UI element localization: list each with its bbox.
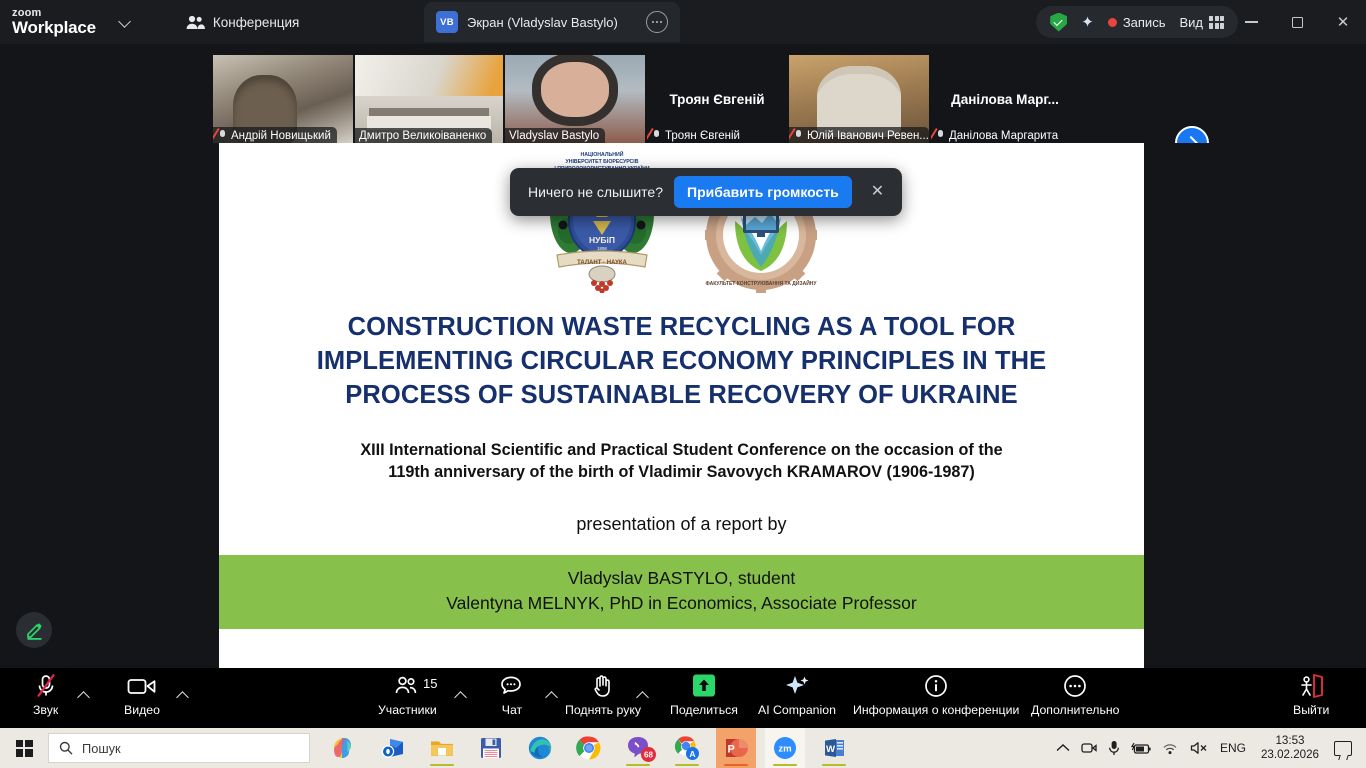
- zoom-logo: zoom Workplace: [12, 8, 96, 37]
- microphone-muted-icon: [793, 129, 803, 142]
- taskbar-app-list: 68 A P: [324, 728, 854, 768]
- conference-tab-label: Конференция: [213, 15, 300, 30]
- ai-companion-button[interactable]: AI Companion: [758, 672, 836, 717]
- screen-share-tab[interactable]: VB Экран (Vladyslav Bastylo): [424, 2, 680, 42]
- record-dot-icon: [1108, 18, 1117, 27]
- svg-text:zm: zm: [778, 744, 791, 755]
- zoom-icon[interactable]: zm: [765, 728, 805, 768]
- outlook-icon[interactable]: [373, 728, 413, 768]
- share-screen-button[interactable]: Поделиться: [670, 672, 738, 717]
- chat-bubble-icon: [500, 672, 524, 700]
- participant-thumbnail[interactable]: Данілова Марг... Данілова Маргарита: [931, 55, 1079, 144]
- shield-check-icon[interactable]: [1050, 13, 1067, 32]
- search-icon: [59, 741, 73, 755]
- video-button[interactable]: Видео: [124, 672, 160, 717]
- participant-name-label: Юлій Іванович Ревен...: [789, 127, 929, 144]
- share-screen-icon: [689, 672, 719, 700]
- volume-muted-icon[interactable]: [1190, 741, 1209, 755]
- slide-presented-by: presentation of a report by: [219, 514, 1144, 535]
- info-circle-icon: [924, 672, 948, 700]
- participant-name-label: Дмитро Великоіваненко: [355, 128, 492, 144]
- slide-logos: НАЦІОНАЛЬНИЙ УНІВЕРСИТЕТ БІОРЕСУРСІВ І П…: [219, 143, 1144, 293]
- svg-text:68: 68: [644, 750, 653, 759]
- close-icon: ✕: [1337, 15, 1350, 30]
- participant-display-name: Троян Євгеній: [663, 92, 770, 107]
- participant-name-label: Данілова Маргарита: [931, 127, 1064, 144]
- start-button[interactable]: [0, 728, 48, 768]
- people-icon: [394, 672, 420, 700]
- chrome-profile-icon[interactable]: A: [667, 728, 707, 768]
- minimize-button[interactable]: [1228, 0, 1274, 44]
- more-dots-icon[interactable]: [646, 11, 668, 33]
- recording-indicator[interactable]: Запись: [1108, 15, 1166, 30]
- shared-screen-stage: НАЦІОНАЛЬНИЙ УНІВЕРСИТЕТ БІОРЕСУРСІВ І П…: [0, 143, 1366, 668]
- zoom-logo-line2: Workplace: [12, 19, 96, 36]
- search-placeholder: Пошук: [82, 741, 121, 756]
- more-button[interactable]: Дополнительно: [1031, 672, 1120, 717]
- powerpoint-icon[interactable]: P: [716, 728, 756, 768]
- slide-subtitle-line2: 119th anniversary of the birth of Vladim…: [283, 461, 1080, 484]
- meeting-info-button[interactable]: Информация о конференции: [853, 672, 1019, 717]
- participant-thumbnail[interactable]: Андрій Новищький: [213, 55, 353, 144]
- ai-companion-label: AI Companion: [758, 703, 836, 717]
- avatar: VB: [436, 11, 458, 33]
- annotate-button[interactable]: [16, 612, 52, 648]
- svg-text:P: P: [728, 743, 735, 755]
- participant-filmstrip: Андрій Новищький Дмитро Великоіваненко V…: [0, 44, 1366, 156]
- audio-notification-banner: Ничего не слышите? Прибавить громкость ✕: [510, 168, 902, 216]
- meeting-status-cluster: ✦ Запись Вид: [1036, 6, 1238, 38]
- svg-text:НУБіП: НУБіП: [588, 235, 614, 245]
- chat-label: Чат: [502, 703, 522, 717]
- microphone-muted-icon: [217, 129, 227, 142]
- leave-label: Выйти: [1293, 703, 1329, 717]
- raise-hand-label: Поднять руку: [565, 703, 641, 717]
- chevron-down-icon[interactable]: [118, 14, 134, 30]
- participant-thumbnail[interactable]: Юлій Іванович Ревен...: [789, 55, 929, 144]
- language-indicator[interactable]: ENG: [1220, 741, 1246, 755]
- svg-text:ТАЛАНТ · НАУКА: ТАЛАНТ · НАУКА: [577, 260, 627, 266]
- svg-text:1898: 1898: [597, 246, 607, 251]
- camera-icon: [127, 672, 157, 700]
- slide-title: CONSTRUCTION WASTE RECYCLING AS A TOOL F…: [265, 311, 1098, 413]
- exit-door-icon: [1297, 672, 1325, 700]
- sparkle-icon[interactable]: ✦: [1081, 15, 1094, 30]
- camera-icon[interactable]: [1081, 741, 1097, 755]
- svg-text:НАЦІОНАЛЬНИЙ: НАЦІОНАЛЬНИЙ: [580, 150, 623, 158]
- participant-thumbnail[interactable]: Троян Євгеній Троян Євгеній: [647, 55, 787, 144]
- notification-icon[interactable]: [1334, 741, 1352, 756]
- close-icon[interactable]: ✕: [863, 184, 892, 200]
- thumbnail-list: Андрій Новищький Дмитро Великоіваненко V…: [213, 55, 1079, 144]
- clock-date: 23.02.2026: [1261, 748, 1319, 762]
- audio-button[interactable]: Звук: [33, 672, 58, 717]
- save-disk-icon[interactable]: [471, 728, 511, 768]
- participant-thumbnail-active[interactable]: Vladyslav Bastylo: [505, 55, 645, 144]
- presentation-slide: НАЦІОНАЛЬНИЙ УНІВЕРСИТЕТ БІОРЕСУРСІВ І П…: [219, 143, 1144, 668]
- audio-options-chevron-icon[interactable]: [77, 688, 91, 702]
- clock[interactable]: 13:53 23.02.2026: [1261, 734, 1319, 763]
- view-label: Вид: [1179, 15, 1203, 30]
- maximize-button[interactable]: [1274, 0, 1320, 44]
- grid-icon: [1209, 16, 1224, 29]
- word-icon[interactable]: W: [814, 728, 854, 768]
- slide-authors-band: Vladyslav BASTYLO, student Valentyna MEL…: [219, 555, 1144, 629]
- system-tray: ENG 13:53 23.02.2026: [1056, 734, 1366, 763]
- raise-hand-button[interactable]: Поднять руку: [565, 672, 641, 717]
- chevron-up-icon[interactable]: [1056, 743, 1070, 753]
- participants-options-chevron-icon[interactable]: [454, 688, 468, 702]
- slide-subtitle: XIII International Scientific and Practi…: [283, 439, 1080, 484]
- window-controls: ✕: [1228, 0, 1366, 44]
- slide-author-line1: Vladyslav BASTYLO, student: [229, 566, 1134, 591]
- video-options-chevron-icon[interactable]: [176, 688, 190, 702]
- slide-subtitle-line1: XIII International Scientific and Practi…: [283, 439, 1080, 462]
- share-screen-label: Поделиться: [670, 703, 738, 717]
- participants-count: 15: [423, 676, 437, 691]
- slide-author-line2: Valentyna MELNYK, PhD in Economics, Asso…: [229, 591, 1134, 616]
- chat-button[interactable]: Чат: [500, 672, 524, 717]
- raised-hand-icon: [592, 672, 614, 700]
- clock-time: 13:53: [1261, 734, 1319, 748]
- conference-tab[interactable]: Конференция: [176, 9, 310, 36]
- battery-charging-icon[interactable]: [1131, 742, 1151, 755]
- participants-label: Участники: [378, 703, 437, 717]
- pencil-icon: [25, 621, 44, 640]
- increase-volume-button[interactable]: Прибавить громкость: [674, 176, 852, 208]
- participant-name-label: Троян Євгеній: [647, 127, 746, 144]
- wifi-icon[interactable]: [1162, 741, 1179, 755]
- participant-name-label: Vladyslav Bastylo: [505, 128, 605, 144]
- title-bar: zoom Workplace Конференция VB Экран (Vla…: [0, 0, 1366, 44]
- participant-name-label: Андрій Новищький: [213, 127, 337, 144]
- notification-message: Ничего не слышите?: [528, 184, 663, 200]
- chat-options-chevron-icon[interactable]: [545, 688, 559, 702]
- microphone-muted-icon: [935, 129, 945, 142]
- meeting-toolbar: Звук Видео Участники: [0, 668, 1366, 728]
- taskbar-search-input[interactable]: Пошук: [48, 733, 310, 763]
- svg-text:ФАКУЛЬТЕТ КОНСТРУЮВАННЯ ТА ДИЗ: ФАКУЛЬТЕТ КОНСТРУЮВАННЯ ТА ДИЗАЙНУ: [705, 279, 817, 287]
- screen-share-tab-label: Экран (Vladyslav Bastylo): [467, 15, 637, 30]
- copilot-icon[interactable]: [324, 728, 364, 768]
- svg-text:A: A: [689, 749, 695, 759]
- sparkle-icon: [783, 672, 811, 700]
- view-button[interactable]: Вид: [1179, 15, 1224, 30]
- video-label: Видео: [124, 703, 160, 717]
- windows-logo-icon: [16, 740, 33, 757]
- zoom-meeting-window: zoom Workplace Конференция VB Экран (Vla…: [0, 0, 1366, 768]
- more-circle-icon: [1063, 672, 1087, 700]
- participant-thumbnail[interactable]: Дмитро Великоіваненко: [355, 55, 503, 144]
- svg-text:W: W: [826, 744, 836, 755]
- raise-hand-options-chevron-icon[interactable]: [636, 688, 650, 702]
- microphone-icon[interactable]: [1108, 740, 1120, 756]
- microphone-muted-icon: [34, 672, 58, 700]
- recording-label: Запись: [1123, 15, 1166, 30]
- viber-icon[interactable]: 68: [618, 728, 658, 768]
- leave-button[interactable]: Выйти: [1293, 672, 1329, 717]
- file-explorer-icon[interactable]: [422, 728, 462, 768]
- more-label: Дополнительно: [1031, 703, 1120, 717]
- meeting-info-label: Информация о конференции: [853, 703, 1019, 717]
- windows-taskbar: Пошук: [0, 728, 1366, 768]
- svg-text:УНІВЕРСИТЕТ БІОРЕСУРСІВ: УНІВЕРСИТЕТ БІОРЕСУРСІВ: [565, 159, 638, 165]
- close-button[interactable]: ✕: [1320, 0, 1366, 44]
- edge-icon[interactable]: [520, 728, 560, 768]
- people-icon: [186, 15, 205, 30]
- viber-badge: 68: [641, 747, 656, 762]
- audio-label: Звук: [33, 703, 58, 717]
- microphone-muted-icon: [651, 129, 661, 142]
- participant-display-name: Данілова Марг...: [945, 92, 1065, 107]
- chrome-icon[interactable]: [569, 728, 609, 768]
